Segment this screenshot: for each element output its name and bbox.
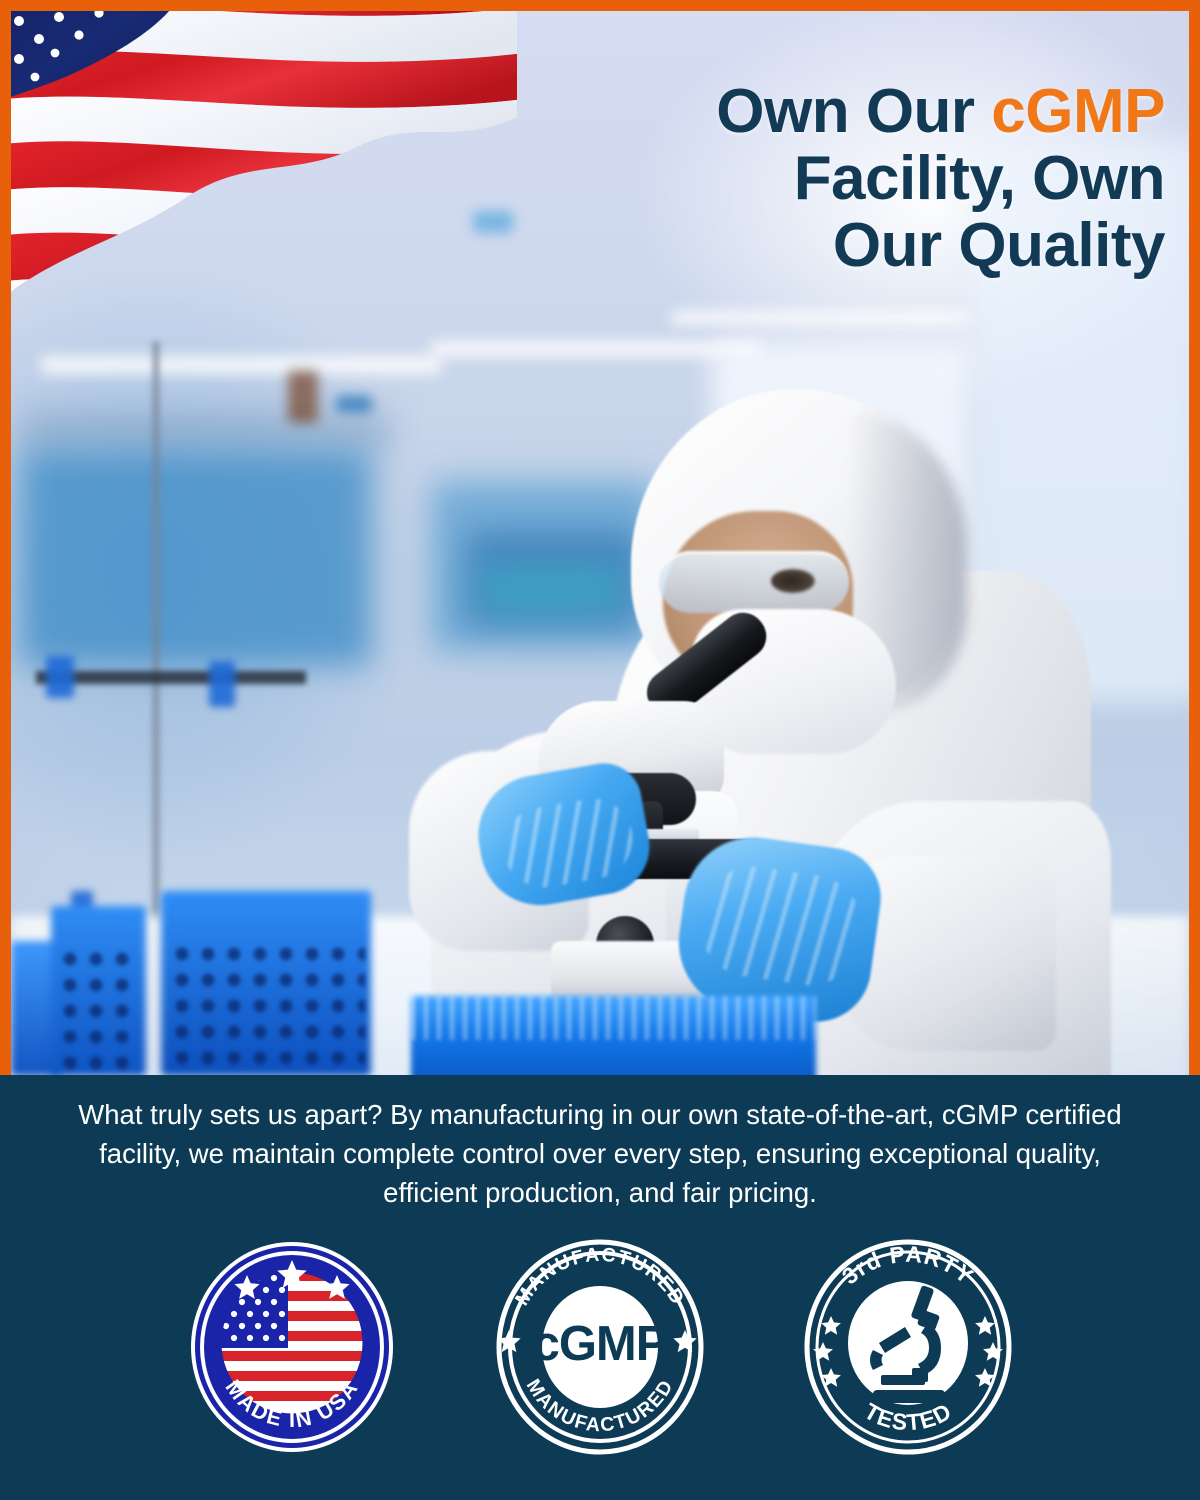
badge-cgmp-center-label: cGMP — [533, 1317, 668, 1371]
badge-third-party-tested: 3rd PARTY TESTED — [801, 1238, 1015, 1456]
usa-flag-overlay — [0, 0, 517, 347]
headline-accent-cgmp: cGMP — [991, 77, 1165, 146]
hero-photo-section: Own Our cGMP Facility, Own Our Quality — [0, 0, 1200, 1075]
headline-line-2: Facility, Own — [794, 144, 1165, 213]
headline-line-1-pre: Own Our — [716, 77, 991, 146]
body-paragraph: What truly sets us apart? By manufacturi… — [60, 1095, 1140, 1212]
page-headline: Own Our cGMP Facility, Own Our Quality — [485, 79, 1165, 280]
headline-line-3: Our Quality — [833, 211, 1165, 280]
info-panel: What truly sets us apart? By manufacturi… — [0, 1075, 1200, 1500]
badge-made-in-usa: MADE IN USA — [185, 1238, 399, 1456]
trust-badge-row: MADE IN USA MANUFACTURED — [0, 1238, 1200, 1456]
promo-poster: Own Our cGMP Facility, Own Our Quality W… — [0, 0, 1200, 1500]
badge-cgmp-manufactured: MANUFACTURED MANUFACTURED cGMP — [493, 1238, 707, 1456]
